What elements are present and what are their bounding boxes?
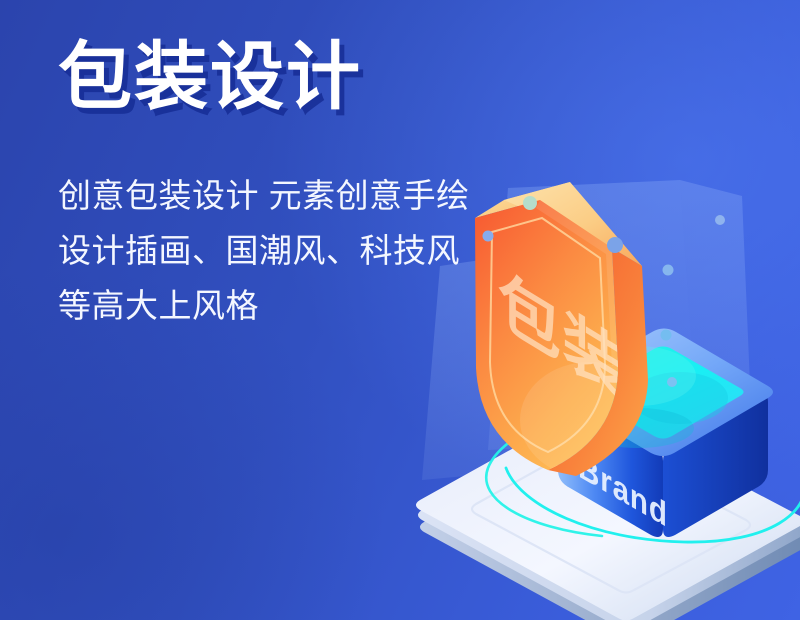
banner-subtitle: 创意包装设计 元素创意手绘 设计插画、国潮风、科技风 等高大上风格	[58, 114, 528, 333]
subtitle-line-2: 设计插画、国潮风、科技风	[58, 223, 528, 278]
packaging-design-banner: Brand	[0, 0, 800, 620]
subtitle-line-3: 等高大上风格	[58, 278, 528, 333]
subtitle-line-1: 创意包装设计 元素创意手绘	[58, 168, 528, 223]
banner-text-block: 包装设计 创意包装设计 元素创意手绘 设计插画、国潮风、科技风 等高大上风格	[58, 40, 528, 333]
page-title: 包装设计	[58, 40, 528, 114]
